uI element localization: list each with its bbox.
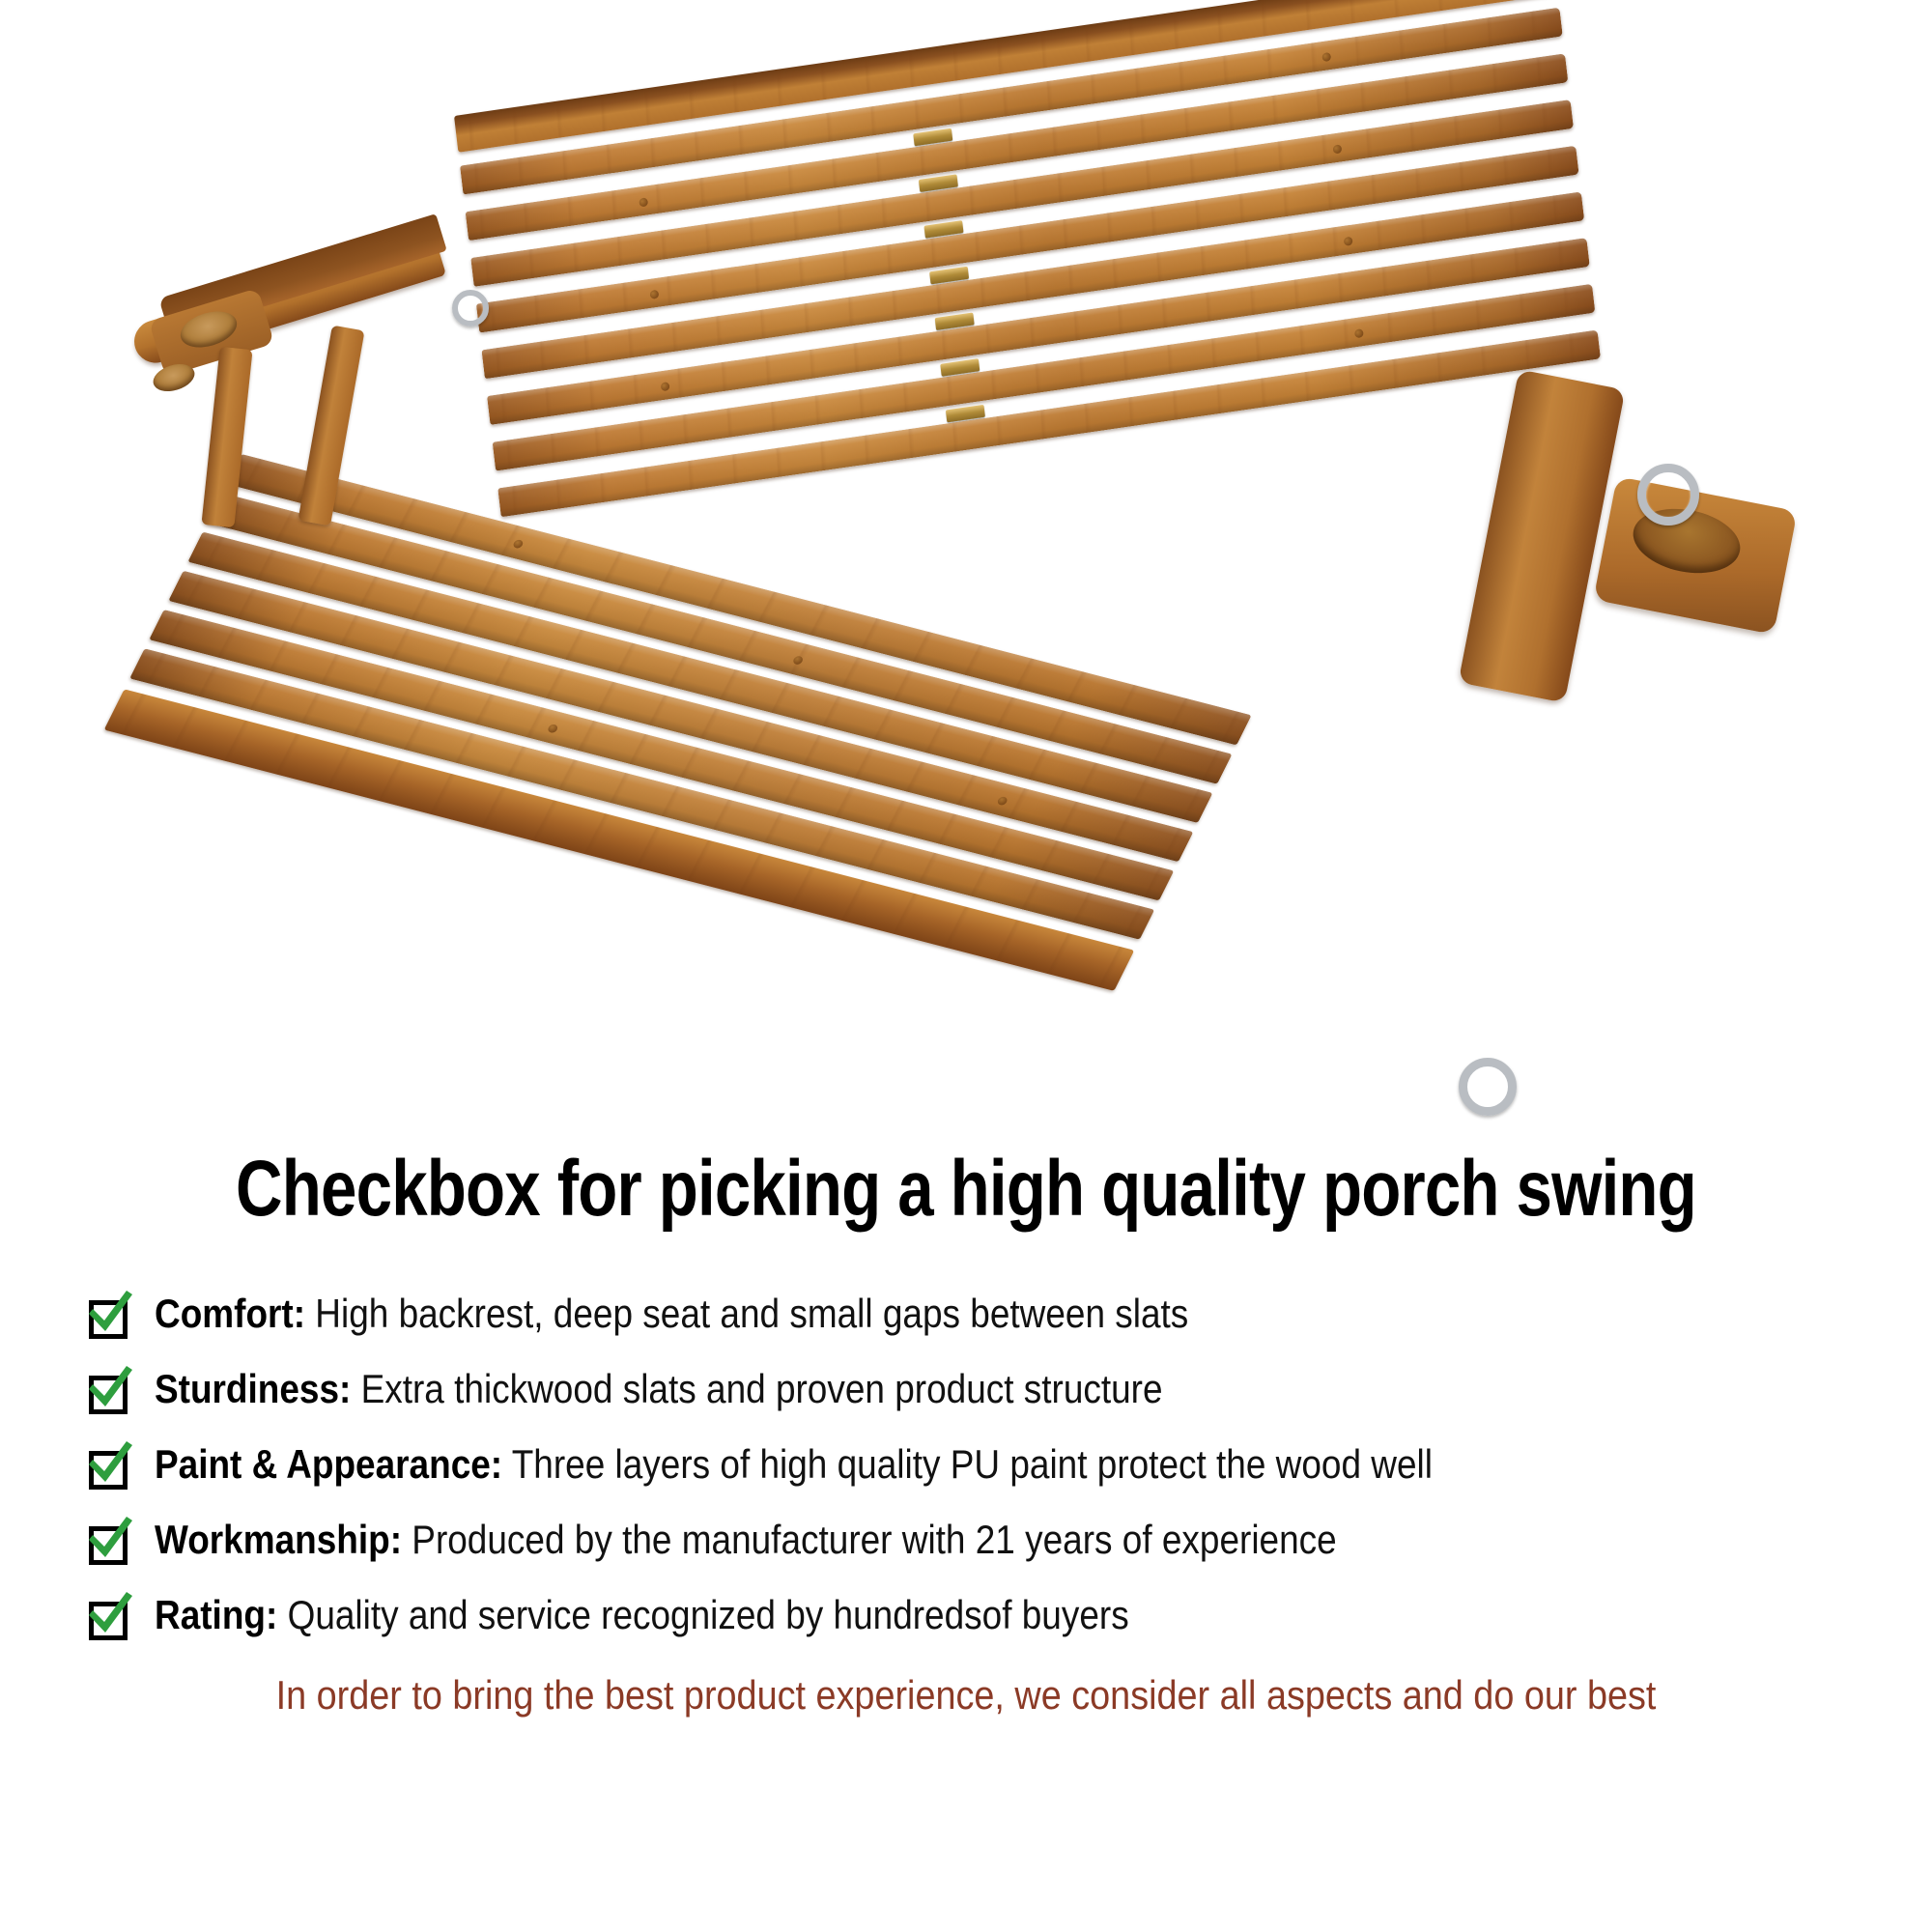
list-item-label: Rating: [155,1592,277,1637]
list-item-description: Produced by the manufacturer with 21 yea… [402,1517,1337,1562]
list-item-text: Sturdiness: Extra thickwood slats and pr… [155,1364,1163,1414]
left-armrest [135,290,454,367]
porch-swing-illustration [0,0,1932,1159]
list-item-text: Workmanship: Produced by the manufacture… [155,1515,1337,1565]
swing-seat [96,454,1251,1007]
hanging-ring-icon [452,290,489,327]
checkmark-icon [83,1590,137,1644]
list-item-description: High backrest, deep seat and small gaps … [305,1291,1188,1336]
list-item: Sturdiness: Extra thickwood slats and pr… [87,1364,1893,1418]
hanging-ring-icon [1637,464,1699,526]
list-item: Workmanship: Produced by the manufacture… [87,1515,1893,1569]
list-item-description: Quality and service recognized by hundre… [277,1592,1128,1637]
list-item: Paint & Appearance: Three layers of high… [87,1439,1893,1493]
list-item-text: Comfort: High backrest, deep seat and sm… [155,1289,1188,1339]
checkmark-icon [83,1515,137,1569]
infographic-content: Checkbox for picking a high quality porc… [0,1150,1932,1721]
list-item-label: Comfort: [155,1291,305,1336]
checked-checkbox-icon[interactable] [87,1520,131,1565]
list-item-text: Rating: Quality and service recognized b… [155,1590,1129,1640]
list-item-label: Sturdiness: [155,1366,351,1411]
list-item-label: Paint & Appearance: [155,1441,502,1487]
list-item-description: Extra thickwood slats and proven product… [351,1366,1162,1411]
footer-note: In order to bring the best product exper… [97,1669,1835,1721]
list-item-description: Three layers of high quality PU paint pr… [502,1441,1433,1487]
checked-checkbox-icon[interactable] [87,1445,131,1490]
list-item: Rating: Quality and service recognized b… [87,1590,1893,1644]
checked-checkbox-icon[interactable] [87,1294,131,1339]
checkmark-icon [83,1289,137,1343]
list-item-text: Paint & Appearance: Three layers of high… [155,1439,1433,1490]
list-item-label: Workmanship: [155,1517,402,1562]
page-title: Checkbox for picking a high quality porc… [174,1150,1758,1229]
hanging-ring-icon [1459,1058,1517,1116]
product-photo [0,0,1932,1159]
checkmark-icon [83,1439,137,1493]
checked-checkbox-icon[interactable] [87,1596,131,1640]
checkmark-icon [83,1364,137,1418]
checked-checkbox-icon[interactable] [87,1370,131,1414]
list-item: Comfort: High backrest, deep seat and sm… [87,1289,1893,1343]
swing-backrest [454,0,1602,528]
benefits-checklist: Comfort: High backrest, deep seat and sm… [0,1289,1932,1644]
right-arm-post [1459,369,1626,702]
